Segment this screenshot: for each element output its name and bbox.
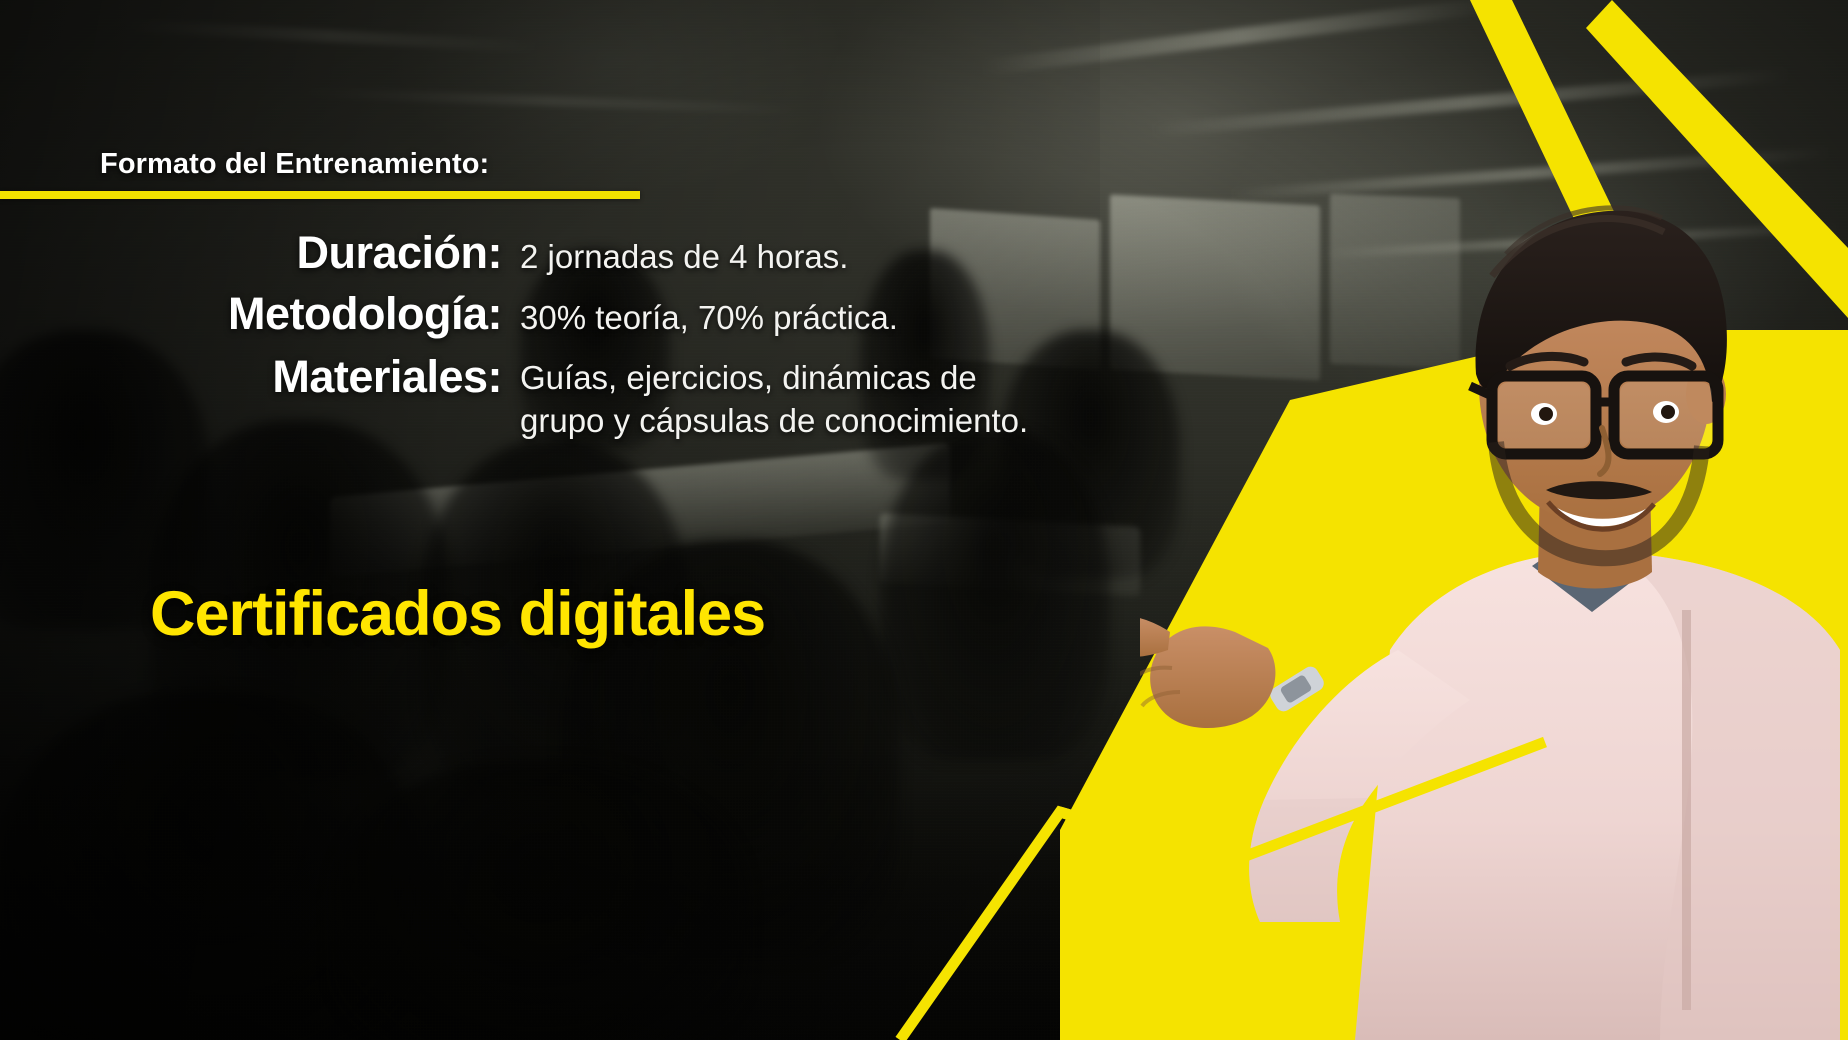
detail-row: Materiales: Guías, ejercicios, dinámicas… [0,348,1040,443]
slide-content: Formato del Entrenamiento: Duración: 2 j… [0,0,1100,1040]
detail-rows: Duración: 2 jornadas de 4 horas. Metodol… [0,226,1040,449]
detail-value: 30% teoría, 70% práctica. [520,287,1040,340]
detail-row: Duración: 2 jornadas de 4 horas. [0,226,1040,281]
eyebrow-underline-rule [0,191,640,199]
slide-canvas: Formato del Entrenamiento: Duración: 2 j… [0,0,1848,1040]
detail-row: Metodología: 30% teoría, 70% práctica. [0,287,1040,342]
detail-label: Duración: [0,226,520,281]
presenter-photo [1140,180,1840,1040]
detail-label: Metodología: [0,287,520,342]
detail-value: Guías, ejercicios, dinámicas de grupo y … [520,348,1040,443]
headline-certificados: Certificados digitales [150,578,765,650]
detail-value: 2 jornadas de 4 horas. [520,226,1040,279]
section-eyebrow-title: Formato del Entrenamiento: [100,148,489,181]
detail-label: Materiales: [0,348,520,405]
